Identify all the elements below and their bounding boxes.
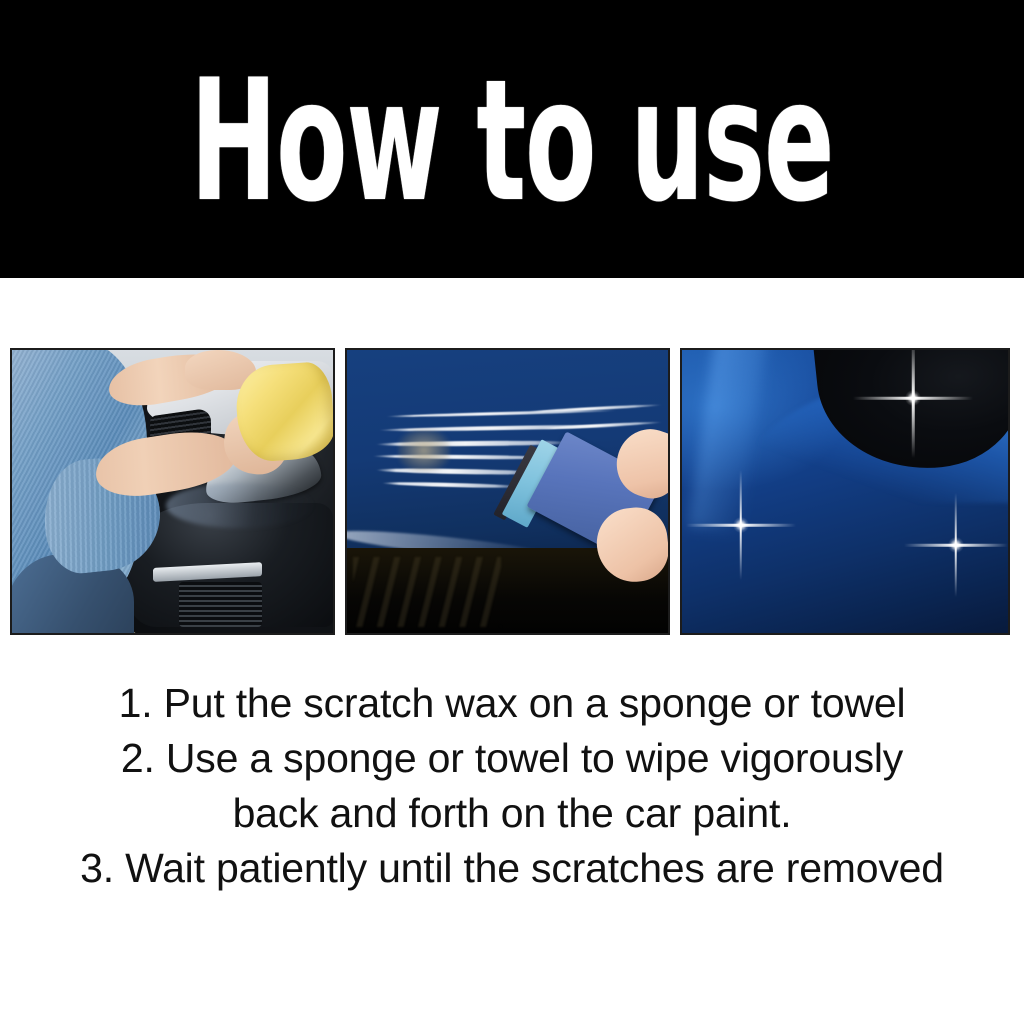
instruction-step-2: 2. Use a sponge or towel to wipe vigorou… (0, 731, 1024, 786)
instructions-list: 1. Put the scratch wax on a sponge or to… (0, 676, 1024, 896)
how-to-use-infographic: How to use (0, 0, 1024, 1024)
photo-scratches-removed-shine (680, 348, 1010, 635)
photo2-tire-tread (353, 557, 501, 628)
photo1-yellow-towel (233, 361, 335, 464)
instruction-step-2-continued: back and forth on the car paint. (0, 786, 1024, 841)
title-banner: How to use (0, 0, 1024, 278)
page-title: How to use (190, 57, 833, 225)
photo1-reflection (166, 483, 314, 528)
photo1-lower-grille (179, 582, 262, 627)
photo-strip (10, 348, 1014, 635)
instruction-step-3: 3. Wait patiently until the scratches ar… (0, 841, 1024, 896)
photo-rub-sponge-on-scratches (345, 348, 670, 635)
photo-apply-wax-to-towel (10, 348, 335, 635)
photo2-scratch-residue (398, 429, 449, 471)
instruction-step-1: 1. Put the scratch wax on a sponge or to… (0, 676, 1024, 731)
